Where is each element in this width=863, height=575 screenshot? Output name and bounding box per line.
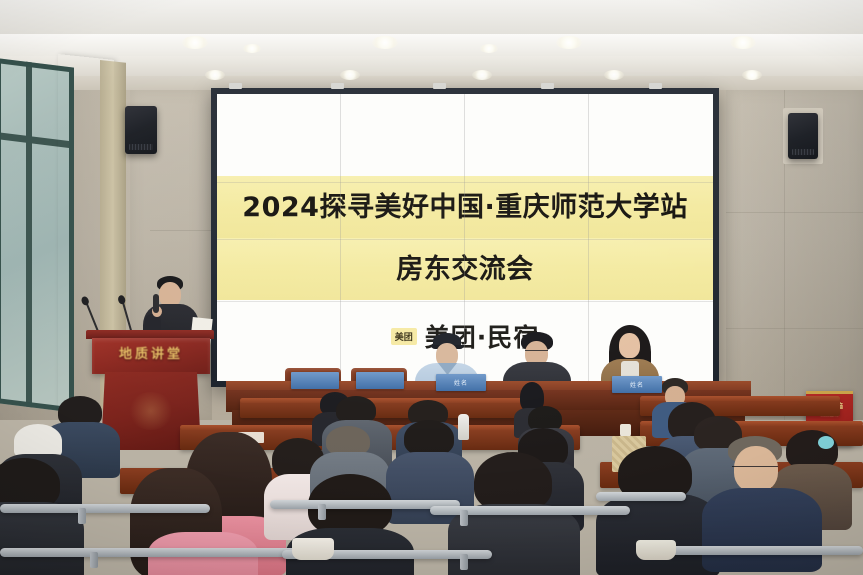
screen-clip xyxy=(229,83,242,89)
downlight-icon xyxy=(205,70,225,80)
seat-rail xyxy=(0,548,300,557)
screen-title-line-2: 房东交流会 xyxy=(217,248,713,292)
downlight-icon xyxy=(372,36,398,49)
screen-clip xyxy=(541,83,554,89)
wall-seam xyxy=(726,212,863,213)
ceiling-soffit xyxy=(0,0,863,34)
conference-hall-photo: 2024探寻美好中国·重庆师范大学站 房东交流会 美团 美团·民宿 xyxy=(0,0,863,575)
audience-hair xyxy=(404,420,454,456)
downlight-icon xyxy=(730,36,756,49)
led-panel-seam xyxy=(217,239,713,240)
hair-clip-icon xyxy=(818,436,834,449)
panelist-3-head xyxy=(619,333,640,358)
tea-cup[interactable] xyxy=(292,538,334,560)
screen-clip xyxy=(649,83,662,89)
wall-speaker-left xyxy=(125,106,157,154)
seat-rail-post xyxy=(460,554,468,570)
screen-clip xyxy=(331,83,344,89)
wall-seam xyxy=(726,328,863,329)
seat-rail-post xyxy=(90,552,98,568)
screen-title-line-1: 2024探寻美好中国·重庆师范大学站 xyxy=(217,186,713,230)
led-panel-seam xyxy=(464,94,465,381)
wall-seam xyxy=(150,230,212,231)
downlight-icon xyxy=(472,70,492,80)
led-panel-seam xyxy=(217,182,713,183)
nameplate-empty xyxy=(291,372,339,389)
podium-emblem xyxy=(128,392,174,430)
speaker-grill-icon xyxy=(129,144,153,150)
ceiling xyxy=(0,0,863,96)
screen-clip xyxy=(433,83,446,89)
audience-torso xyxy=(702,488,822,572)
seat-rail xyxy=(0,504,210,513)
nameplate-panelist-3: 姓名 xyxy=(612,376,662,393)
downlight-icon xyxy=(742,70,762,80)
audience-hair xyxy=(14,424,62,458)
seat-rail-post xyxy=(78,508,86,524)
led-panel-seam xyxy=(340,94,341,381)
glasses-icon xyxy=(525,350,548,355)
seat-rail-post xyxy=(460,510,468,526)
podium-sign: 地质讲堂 xyxy=(95,340,207,364)
downlight-icon xyxy=(182,36,208,49)
handheld-microphone-icon xyxy=(153,294,159,313)
downlight-icon xyxy=(604,70,624,80)
downlight-icon xyxy=(556,36,582,49)
seat-rail xyxy=(596,492,686,501)
downlight-icon xyxy=(243,44,261,53)
glasses-icon xyxy=(732,466,778,471)
brand-badge-icon: 美团 xyxy=(391,328,417,345)
nameplate-panelist-1: 姓名 xyxy=(436,374,486,391)
downlight-icon xyxy=(340,70,360,80)
nameplate-empty xyxy=(356,372,404,389)
seat-rail-post xyxy=(318,504,326,520)
led-panel-seam xyxy=(217,301,713,302)
downlight-icon xyxy=(480,44,498,53)
ceiling-band-mid xyxy=(0,56,863,76)
led-panel-seam xyxy=(588,94,589,381)
speaker-grill-icon xyxy=(792,149,815,155)
wall-speaker-right xyxy=(788,113,818,159)
tea-cup[interactable] xyxy=(636,540,676,560)
audience-hair xyxy=(474,452,552,512)
water-bottle[interactable] xyxy=(458,414,469,440)
bench-desk-top xyxy=(240,398,540,403)
